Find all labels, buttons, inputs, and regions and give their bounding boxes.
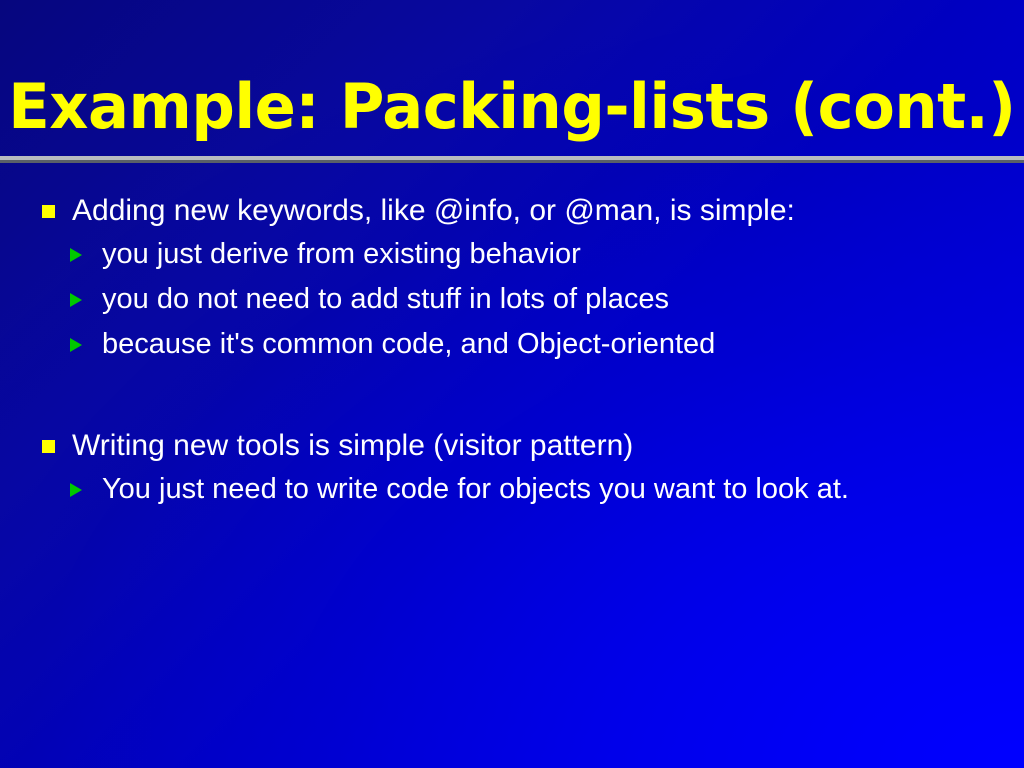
list-item: Adding new keywords, like @info, or @man…	[0, 190, 1024, 232]
bullet-text: You just need to write code for objects …	[102, 467, 1024, 512]
square-bullet-icon	[42, 205, 55, 218]
list-item: you do not need to add stuff in lots of …	[0, 277, 1024, 322]
slide-body: Adding new keywords, like @info, or @man…	[0, 190, 1024, 512]
title-divider-shadow	[0, 160, 1024, 163]
list-item: You just need to write code for objects …	[102, 467, 1024, 512]
triangle-bullet-icon	[70, 248, 82, 262]
list-item: because it's common code, and Object-ori…	[0, 322, 1024, 367]
bullet-text: because it's common code, and Object-ori…	[102, 322, 1024, 367]
slide-title-area: Example: Packing-lists (cont.)	[0, 64, 1024, 150]
bullet-text: you do not need to add stuff in lots of …	[102, 277, 1024, 322]
triangle-bullet-icon	[70, 338, 82, 352]
list-item: you just derive from existing behavior	[0, 232, 1024, 277]
slide-canvas: Example: Packing-lists (cont.) Adding ne…	[0, 0, 1024, 768]
bullet-text: you just derive from existing behavior	[102, 232, 1024, 277]
list-item: Writing new tools is simple (visitor pat…	[0, 425, 1024, 467]
group-spacer	[0, 367, 1024, 425]
bullet-text: Adding new keywords, like @info, or @man…	[72, 194, 795, 227]
bullet-text: Writing new tools is simple (visitor pat…	[72, 429, 633, 462]
square-bullet-icon	[42, 440, 55, 453]
page-title: Example: Packing-lists (cont.)	[8, 76, 1015, 138]
triangle-bullet-icon	[70, 293, 82, 307]
triangle-bullet-icon	[70, 483, 82, 497]
